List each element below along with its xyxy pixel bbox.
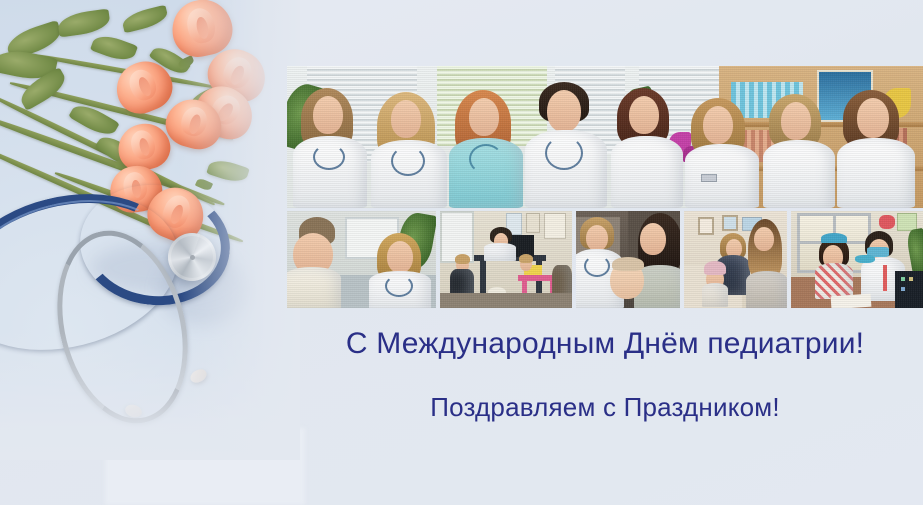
thumb-doctor-office-children	[440, 211, 572, 308]
thumb-doctor-with-toddler	[287, 211, 436, 308]
thumb-doctor-examining-baby	[576, 211, 679, 308]
greeting-poster: С Международным Днём педиатрии! Поздравл…	[0, 0, 923, 505]
stethoscope-chestpiece	[168, 233, 216, 281]
thumbnail-strip	[287, 211, 923, 308]
greeting-line-2: Поздравляем с Праздником!	[287, 391, 923, 424]
photo-collage	[287, 66, 923, 308]
thumb-consultation-mother-child	[684, 211, 787, 308]
greeting-line-1: С Международным Днём педиатрии!	[287, 325, 923, 363]
thumb-doctor-mask-examining-girl	[791, 211, 923, 308]
greeting-text-block: С Международным Днём педиатрии! Поздравл…	[287, 325, 923, 423]
stethoscope-illustration	[0, 215, 300, 460]
roses-and-stethoscope-artwork	[0, 0, 300, 460]
group-photo-medical-staff	[287, 66, 923, 208]
